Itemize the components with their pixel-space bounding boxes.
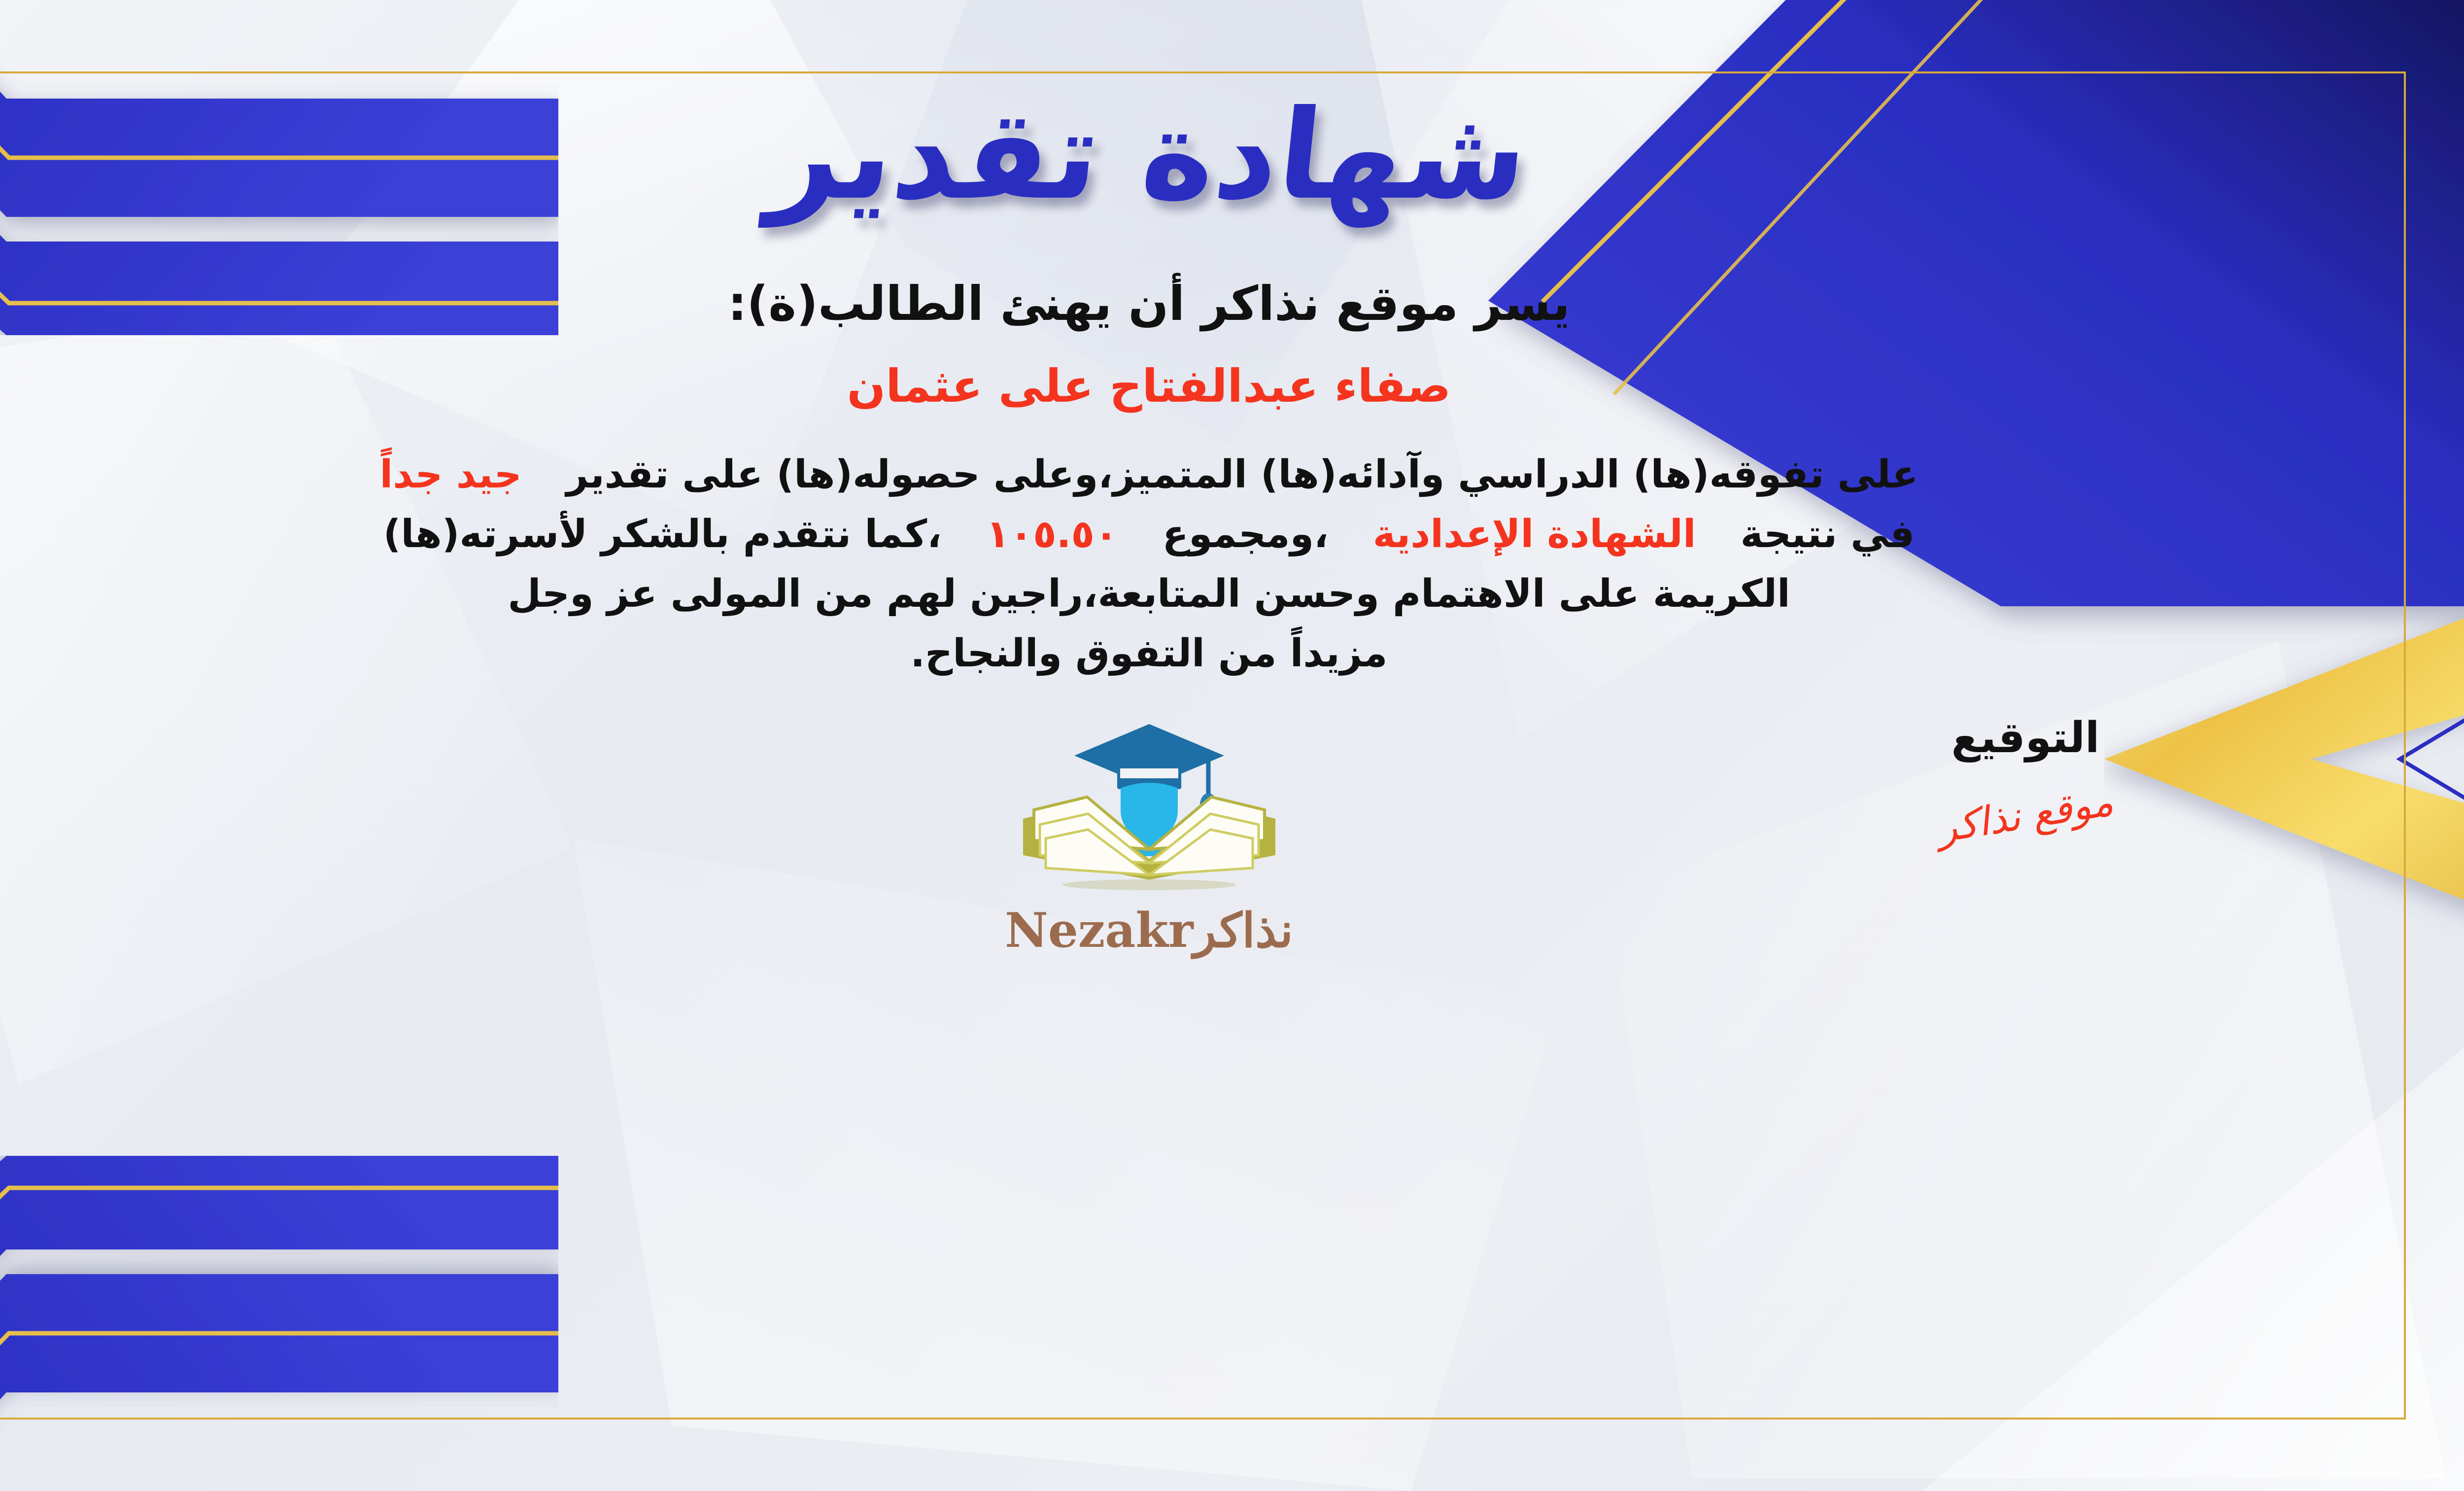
signature-block: التوقيع موقع نذاكر <box>1754 713 2296 838</box>
body-line: على تفوقه(ها) الدراسي وآدائه(ها) المتميز… <box>6 445 2293 505</box>
grade-value: جيد جداً <box>380 452 522 497</box>
exam-name: الشهادة الإعدادية <box>1373 512 1696 556</box>
body-segment: على تفوقه(ها) الدراسي وآدائه(ها) المتميز… <box>566 452 1918 497</box>
congratulation-line: يسر موقع نذاكر أن يهنئ الطالب(ة): <box>728 276 1570 331</box>
certificate-footer: التوقيع موقع نذاكر <box>0 713 2385 958</box>
certificate-page: شهادة تقدير يسر موقع نذاكر أن يهنئ الطال… <box>0 0 2464 1491</box>
body-segment: في نتيجة <box>1741 512 1915 556</box>
total-score: ١٠٥.٥٠ <box>986 512 1118 556</box>
body-segment: ،ومجموع <box>1163 512 1329 556</box>
body-segment: ،كما نتقدم بالشكر لأسرته(ها) <box>383 512 942 556</box>
certificate-content: شهادة تقدير يسر موقع نذاكر أن يهنئ الطال… <box>0 79 2385 1412</box>
graduate-on-open-book-logo-icon <box>1011 713 1287 901</box>
logo-latin: Nezakr <box>1005 902 1194 958</box>
logo-arabic: نذاكر <box>1194 902 1293 958</box>
signature-label: التوقيع <box>1951 713 2100 763</box>
body-line: الكريمة على الاهتمام وحسن المتابعة،راجين… <box>6 564 2293 624</box>
student-name: صفاء عبدالفتاح على عثمان <box>847 360 1451 413</box>
brand-logo: نذاكرNezakr <box>878 713 1420 958</box>
logo-wordmark: نذاكرNezakr <box>1005 902 1293 958</box>
certificate-body-paragraph: على تفوقه(ها) الدراسي وآدائه(ها) المتميز… <box>6 445 2293 684</box>
page-title: شهادة تقدير <box>764 94 1534 217</box>
body-line: مزيداً من التفوق والنجاح. <box>6 624 2293 684</box>
signature-script: موقع نذاكر <box>1934 778 2116 851</box>
body-line: في نتيجةالشهادة الإعدادية،ومجموع١٠٥.٥٠،ك… <box>6 505 2293 564</box>
